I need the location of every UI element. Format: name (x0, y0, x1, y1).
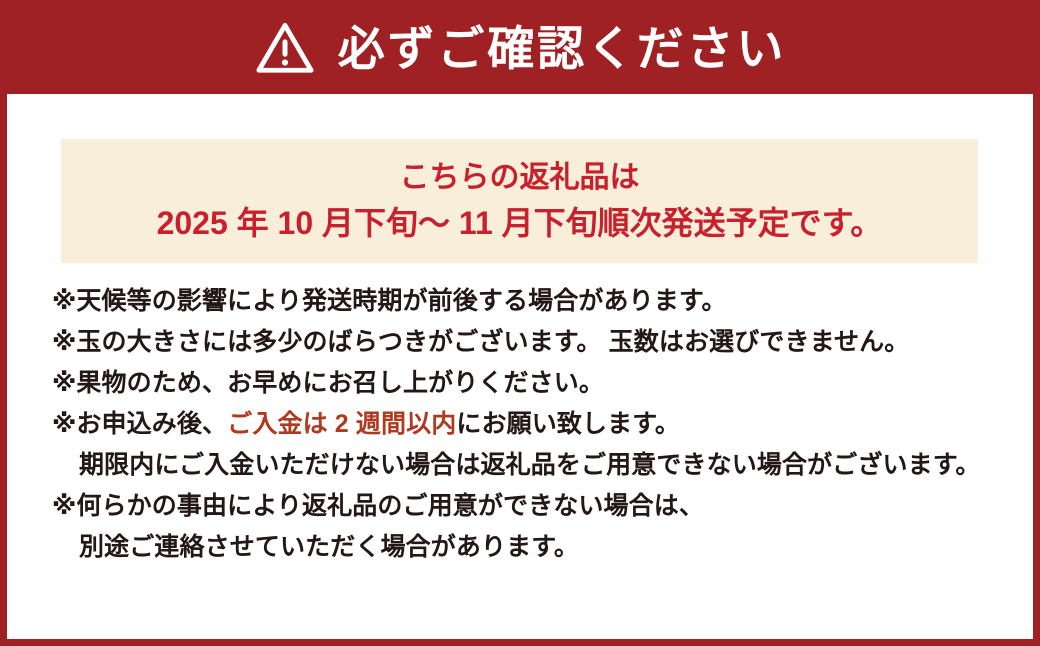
shipping-intro-text: こちらの返礼品は (400, 160, 640, 196)
note-unavailable-cont: 別途ご連絡させていただく場合があります。 (52, 535, 1013, 560)
note-weather-segment-0: ※天候等の影響により発送時期が前後する場合があります。 (52, 287, 727, 315)
note-size-variation-segment-0: ※玉の大きさには多少のばらつきがございます。 玉数はお選びできません。 (52, 328, 909, 356)
notice-body: こちらの返礼品は 2025 年 10 月下旬～ 11 月下旬順次発送予定です。 … (7, 94, 1033, 639)
notes-list: ※天候等の影響により発送時期が前後する場合があります。※玉の大きさには多少のばら… (52, 289, 1013, 576)
notice-panel: 必ずご確認ください こちらの返礼品は 2025 年 10 月下旬～ 11 月下旬… (0, 0, 1040, 646)
note-unavailable-cont-segment-0: 別途ご連絡させていただく場合があります。 (79, 533, 579, 561)
shipping-date-text: 2025 年 10 月下旬～ 11 月下旬順次発送予定です。 (157, 204, 883, 242)
shipping-schedule-box: こちらの返礼品は 2025 年 10 月下旬～ 11 月下旬順次発送予定です。 (61, 139, 978, 263)
note-payment-deadline-segment-1: ご入金は 2 週間以内 (227, 410, 456, 438)
note-eat-early: ※果物のため、お早めにお召し上がりください。 (52, 371, 1013, 396)
note-weather: ※天候等の影響により発送時期が前後する場合があります。 (52, 289, 1013, 314)
notice-header-band: 必ずご確認ください (0, 0, 1040, 94)
note-unavailable-segment-0: ※何らかの事由により返礼品のご用意ができない場合は、 (52, 492, 704, 520)
warning-triangle-icon (254, 20, 316, 78)
note-unavailable: ※何らかの事由により返礼品のご用意ができない場合は、 (52, 494, 1013, 519)
note-payment-deadline: ※お申込み後、ご入金は 2 週間以内にお願い致します。 (52, 412, 1013, 437)
header-title: 必ずご確認ください (338, 25, 786, 72)
note-size-variation: ※玉の大きさには多少のばらつきがございます。 玉数はお選びできません。 (52, 330, 1013, 355)
note-payment-deadline-segment-2: にお願い致します。 (456, 410, 680, 438)
note-payment-deadline-cont-segment-0: 期限内にご入金いただけない場合は返礼品をご用意できない場合がございます。 (79, 451, 981, 479)
note-payment-deadline-segment-0: ※お申込み後、 (52, 410, 227, 438)
note-payment-deadline-cont: 期限内にご入金いただけない場合は返礼品をご用意できない場合がございます。 (52, 453, 1013, 478)
note-eat-early-segment-0: ※果物のため、お早めにお召し上がりください。 (52, 369, 604, 397)
